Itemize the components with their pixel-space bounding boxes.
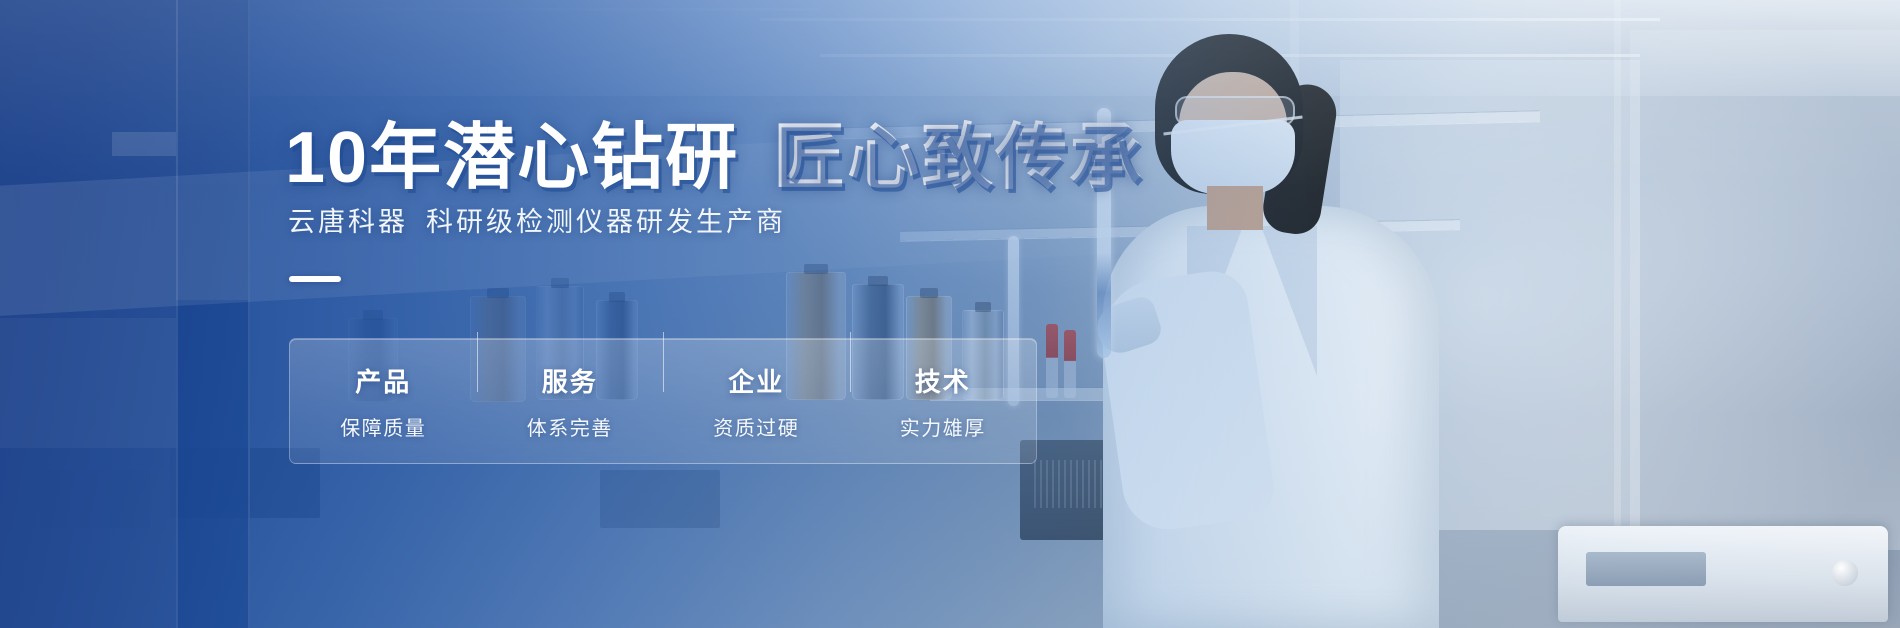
feature-item-technology: 技术 实力雄厚	[850, 362, 1037, 441]
feature-item-enterprise: 企业 资质过硬	[663, 362, 850, 441]
banner-content: 10年潜心钻研匠心致传承 云唐科器科研级检测仪器研发生产商 产品 保障质量 服务…	[0, 0, 1900, 628]
feature-subtitle: 保障质量	[290, 412, 477, 441]
feature-title: 产品	[290, 362, 477, 399]
feature-item-product: 产品 保障质量	[290, 362, 477, 441]
subtitle-descriptor: 科研级检测仪器研发生产商	[426, 207, 786, 237]
subtitle-brand: 云唐科器	[288, 207, 408, 237]
feature-subtitle: 资质过硬	[663, 412, 850, 441]
hero-banner: 10年潜心钻研匠心致传承 云唐科器科研级检测仪器研发生产商 产品 保障质量 服务…	[0, 0, 1900, 628]
page-title: 10年潜心钻研匠心致传承	[285, 98, 1143, 203]
feature-subtitle: 实力雄厚	[850, 412, 1037, 441]
feature-item-service: 服务 体系完善	[477, 362, 664, 441]
feature-title: 服务	[477, 362, 664, 399]
feature-title: 技术	[850, 362, 1037, 399]
feature-title: 企业	[663, 362, 850, 399]
page-subtitle: 云唐科器科研级检测仪器研发生产商	[288, 200, 786, 239]
headline-lead: 10年潜心钻研	[285, 118, 739, 198]
feature-highlights-panel: 产品 保障质量 服务 体系完善 企业 资质过硬 技术 实力雄厚	[289, 338, 1037, 464]
headline-tail: 匠心致传承	[773, 118, 1143, 198]
accent-dash-divider	[289, 276, 341, 282]
feature-subtitle: 体系完善	[477, 412, 664, 441]
